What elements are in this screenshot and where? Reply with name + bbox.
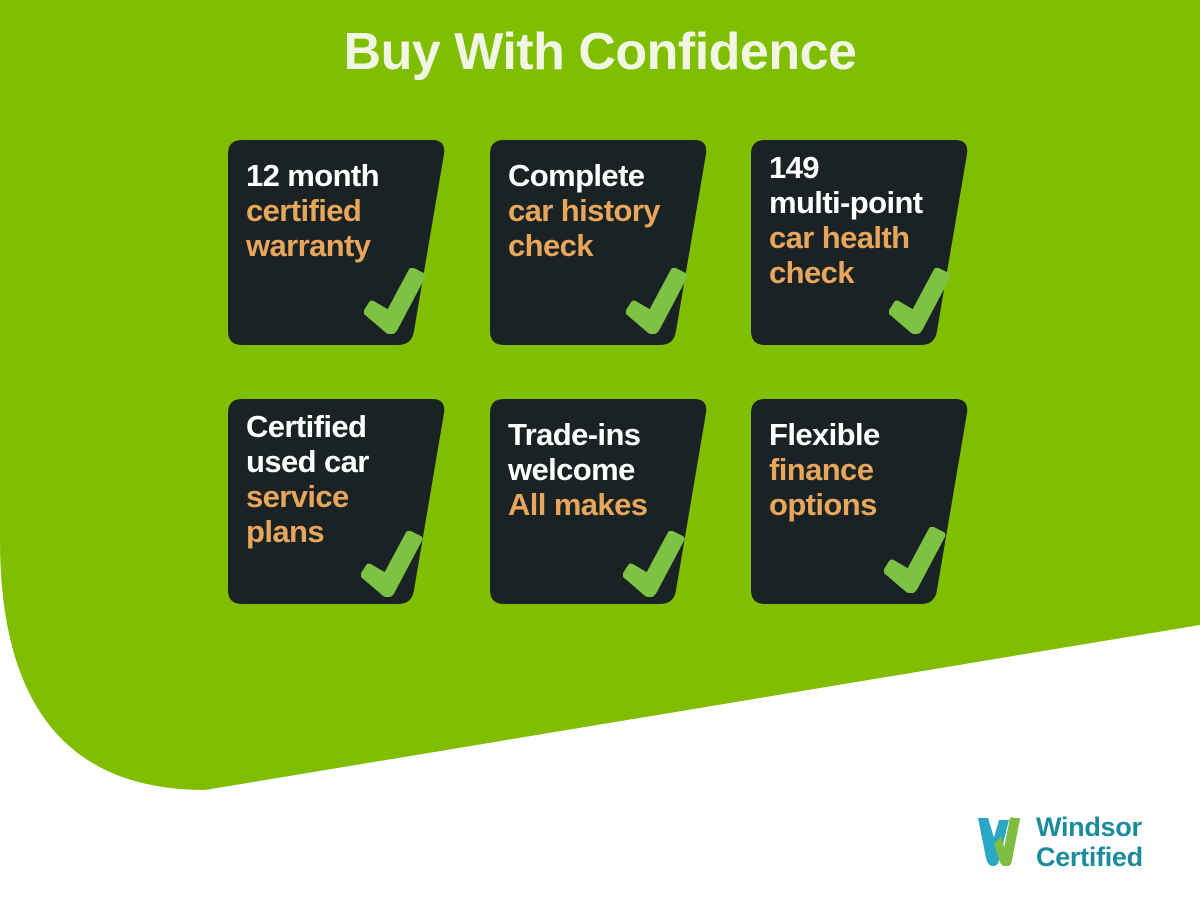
card-line: welcome <box>508 452 688 487</box>
card-line: used car <box>246 444 426 479</box>
card-line: Trade-ins <box>508 417 688 452</box>
card-line: 12 month <box>246 158 426 193</box>
logo-wordmark: Windsor Certified <box>1036 812 1143 872</box>
logo-line-2: Certified <box>1036 842 1143 872</box>
logo-line-1: Windsor <box>1036 812 1143 842</box>
card-line: finance <box>769 452 949 487</box>
card-line: Complete <box>508 158 688 193</box>
card-text-block: Certified used car service plans <box>246 409 426 549</box>
feature-card[interactable]: 12 month certified warranty <box>228 140 450 345</box>
feature-card[interactable]: Trade-ins welcome All makes <box>490 399 712 604</box>
card-line: Flexible <box>769 417 949 452</box>
card-line: car history <box>508 193 688 228</box>
windsor-w-logo-icon <box>972 814 1030 870</box>
feature-card[interactable]: Complete car history check <box>490 140 712 345</box>
card-line: warranty <box>246 228 426 263</box>
card-line: All makes <box>508 487 688 522</box>
feature-card[interactable]: 149 multi-point car health check <box>751 140 973 345</box>
card-line: service <box>246 479 426 514</box>
card-line: options <box>769 487 949 522</box>
card-line: Certified <box>246 409 426 444</box>
card-text-block: Flexible finance options <box>769 417 949 522</box>
card-line: check <box>769 255 949 290</box>
brand-logo[interactable]: Windsor Certified <box>972 812 1162 874</box>
feature-card-grid: 12 month certified warranty Complete car… <box>0 0 1200 900</box>
card-line: car health <box>769 220 949 255</box>
card-line: multi-point <box>769 185 949 220</box>
card-text-block: 12 month certified warranty <box>246 158 426 263</box>
promo-banner: Buy With Confidence 12 month certified w… <box>0 0 1200 900</box>
card-text-block: Complete car history check <box>508 158 688 263</box>
card-line: 149 <box>769 150 949 185</box>
card-text-block: Trade-ins welcome All makes <box>508 417 688 522</box>
card-line: plans <box>246 514 426 549</box>
card-line: check <box>508 228 688 263</box>
feature-card[interactable]: Certified used car service plans <box>228 399 450 604</box>
card-line: certified <box>246 193 426 228</box>
feature-card[interactable]: Flexible finance options <box>751 399 973 604</box>
card-text-block: 149 multi-point car health check <box>769 150 949 290</box>
